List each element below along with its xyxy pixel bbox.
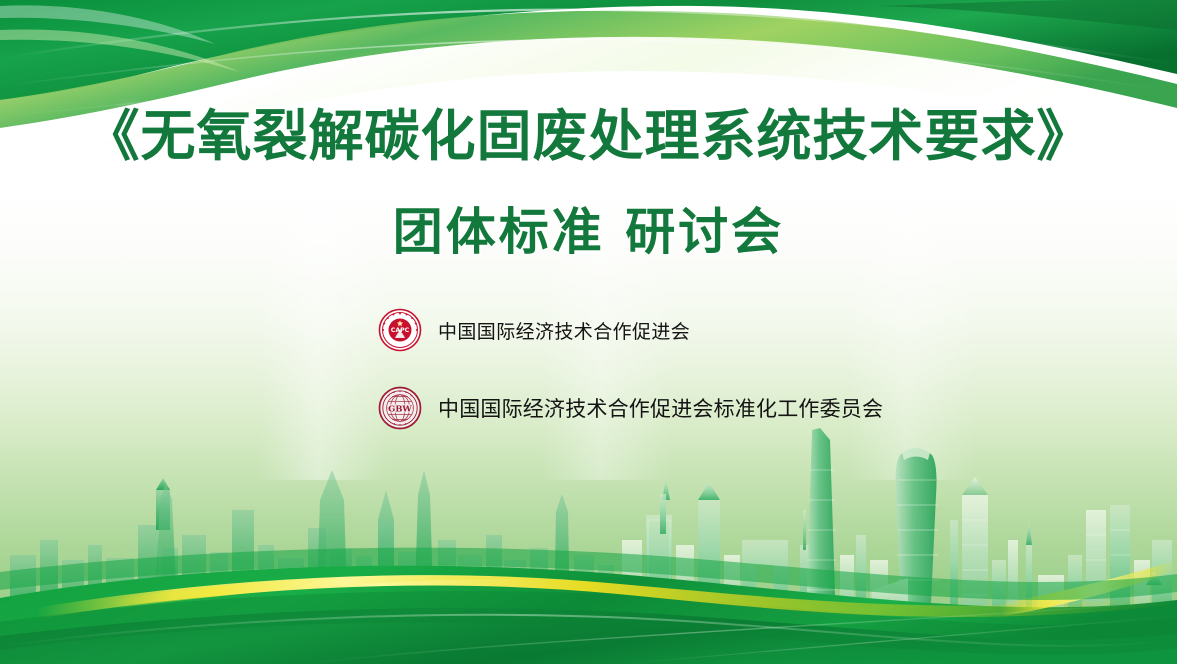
presentation-slide: 《无氧裂解碳化固废处理系统技术要求》 团体标准 研讨会: [0, 0, 1177, 664]
organization-row-capc: CAPC 中国国际经济技术合作促进会: [378, 306, 1098, 354]
organization-name-gbw: 中国国际经济技术合作促进会标准化工作委员会: [438, 393, 883, 423]
gbw-seal-text: GBW: [388, 403, 412, 413]
slide-main-title: 《无氧裂解碳化固废处理系统技术要求》: [0, 106, 1177, 168]
organization-name-capc: 中国国际经济技术合作促进会: [438, 317, 690, 344]
title-block: 《无氧裂解碳化固废处理系统技术要求》 团体标准 研讨会: [0, 106, 1177, 264]
organization-row-gbw: GBW 中国国际经济技术合作促进会标准化工作委员会: [378, 384, 1098, 432]
capc-seal-text: CAPC: [391, 327, 410, 334]
slide-subtitle: 团体标准 研讨会: [0, 192, 1177, 264]
organization-list: CAPC 中国国际经济技术合作促进会: [378, 306, 1098, 432]
gbw-seal-logo-icon: GBW: [378, 386, 422, 430]
capc-seal-logo-icon: CAPC: [378, 308, 422, 352]
